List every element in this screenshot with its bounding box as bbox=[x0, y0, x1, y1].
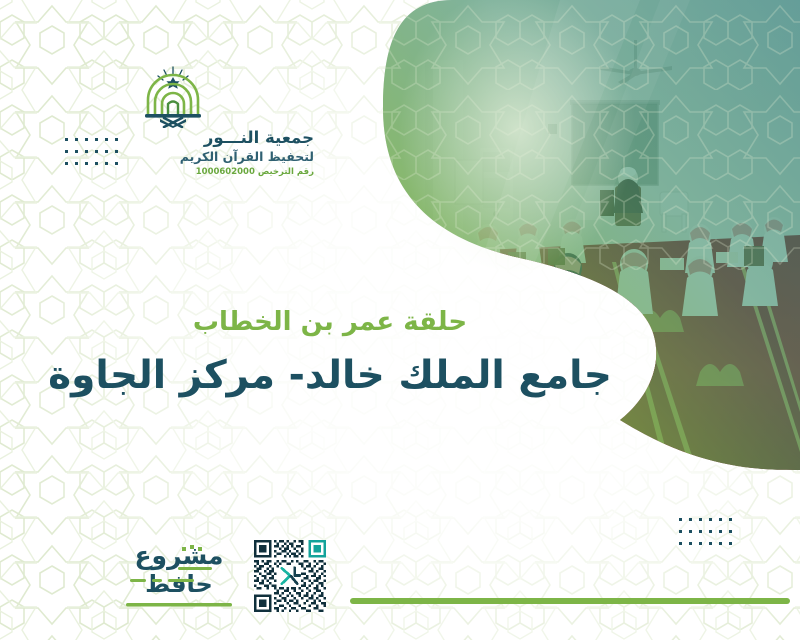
promo-card: جمعية النـــور لتحفيظ القرآن الكريم رقم … bbox=[0, 0, 800, 640]
dot bbox=[85, 150, 88, 153]
page-title: جامع الملك خالد- مركز الجاوة bbox=[0, 352, 660, 401]
dot bbox=[699, 518, 702, 521]
dot bbox=[105, 138, 108, 141]
association-license: رقم الترخيص 1000602000 bbox=[164, 166, 314, 179]
dot bbox=[679, 542, 682, 545]
qr-code[interactable] bbox=[254, 540, 326, 612]
dot bbox=[729, 542, 732, 545]
dot bbox=[115, 138, 118, 141]
dot bbox=[65, 162, 68, 165]
decorative-dot-grid-left bbox=[58, 138, 118, 174]
dot bbox=[699, 542, 702, 545]
decorative-dot-grid-right bbox=[672, 518, 732, 554]
footer-brand: مشروع حافظ bbox=[120, 540, 326, 612]
dot bbox=[699, 530, 702, 533]
dot bbox=[85, 138, 88, 141]
dot bbox=[719, 530, 722, 533]
dot bbox=[679, 530, 682, 533]
project-logo: مشروع حافظ bbox=[120, 543, 238, 609]
headline-block: حلقة عمر بن الخطاب جامع الملك خالد- مركز… bbox=[0, 306, 660, 401]
project-logo-accents bbox=[120, 543, 238, 609]
dot bbox=[729, 518, 732, 521]
dot bbox=[95, 150, 98, 153]
dot bbox=[75, 150, 78, 153]
association-subtitle: لتحفيظ القرآن الكريم bbox=[164, 149, 314, 166]
dot bbox=[689, 530, 692, 533]
dot bbox=[729, 530, 732, 533]
mosque-dome-quran-icon bbox=[134, 66, 212, 128]
dot bbox=[115, 150, 118, 153]
dot bbox=[709, 542, 712, 545]
dot bbox=[85, 162, 88, 165]
dot bbox=[105, 150, 108, 153]
association-logo-text: جمعية النـــور لتحفيظ القرآن الكريم رقم … bbox=[164, 128, 314, 178]
dot bbox=[105, 162, 108, 165]
dot bbox=[719, 542, 722, 545]
dot bbox=[95, 162, 98, 165]
dot bbox=[65, 138, 68, 141]
circle-name-eyebrow: حلقة عمر بن الخطاب bbox=[0, 306, 660, 340]
dot bbox=[709, 530, 712, 533]
dot bbox=[75, 138, 78, 141]
dot bbox=[689, 542, 692, 545]
dot bbox=[75, 162, 78, 165]
dot bbox=[689, 518, 692, 521]
dot bbox=[65, 150, 68, 153]
dot bbox=[679, 518, 682, 521]
dot bbox=[719, 518, 722, 521]
dot bbox=[709, 518, 712, 521]
dot bbox=[115, 162, 118, 165]
dot bbox=[95, 138, 98, 141]
green-divider bbox=[350, 598, 790, 604]
association-name: جمعية النـــور bbox=[164, 128, 314, 149]
